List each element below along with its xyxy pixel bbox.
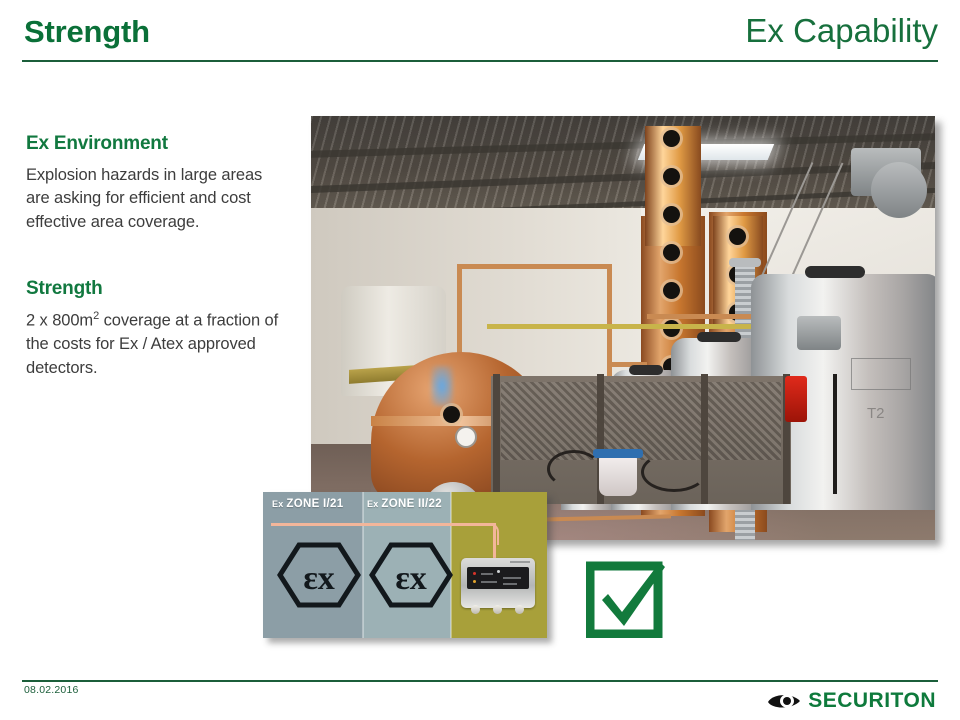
ex-prefix: Ex	[272, 499, 286, 509]
black-hose	[547, 450, 601, 488]
sampling-port	[471, 605, 480, 614]
display-line	[481, 581, 497, 583]
tank-lid	[697, 332, 741, 342]
sight-glass	[729, 228, 746, 245]
copper-pipe	[457, 264, 607, 269]
white-bucket	[599, 456, 637, 496]
skid-post	[493, 374, 500, 504]
motor-flange	[871, 162, 927, 218]
header-divider	[22, 60, 938, 62]
pressure-gauge	[455, 426, 477, 448]
sight-glass	[663, 130, 680, 147]
block-body-ex-environment: Explosion hazards in large areas are ask…	[26, 164, 284, 234]
eye-icon	[767, 691, 801, 711]
detector-cable	[271, 523, 496, 526]
display-line	[503, 577, 521, 579]
tank-placard	[851, 358, 911, 390]
ex-zone-diagram: Ex ZONE I/21 Ex ZONE II/22 ɛx ɛx	[263, 492, 547, 638]
sight-glass	[443, 406, 460, 423]
approved-checkmark-icon	[586, 554, 666, 638]
block-heading-ex-environment: Ex Environment	[26, 133, 284, 155]
photo-canvas: T2	[311, 116, 935, 540]
atex-ex-symbol-icon: ɛx	[369, 542, 453, 608]
fault-led	[473, 580, 476, 583]
detector-cable-corner	[477, 523, 499, 545]
svg-text:ɛx: ɛx	[395, 560, 427, 597]
zone-divider	[362, 492, 364, 638]
detector-brand-mark	[510, 561, 530, 563]
power-led	[497, 570, 500, 573]
slide: Strength Ex Capability Ex Environment Ex…	[0, 0, 960, 720]
skid-post	[701, 374, 708, 504]
text-column: Ex Environment Explosion hazards in larg…	[26, 133, 284, 380]
display-line	[503, 583, 517, 585]
block-heading-strength: Strength	[26, 278, 284, 300]
aspirating-detector-unit	[461, 558, 535, 608]
copper-pipe	[647, 314, 767, 319]
page-subtitle: Ex Capability	[745, 12, 938, 50]
securiton-wordmark: SECURITON	[808, 689, 936, 713]
bucket-lid	[593, 449, 643, 458]
tank-label-text: T2	[867, 405, 885, 422]
tank-agitator-motor	[797, 316, 841, 350]
sight-glass	[663, 168, 680, 185]
display-line	[481, 573, 493, 575]
ex-prefix: Ex	[367, 499, 381, 509]
ex-zone-2-label: Ex ZONE II/22	[367, 498, 442, 510]
atex-ex-symbol-icon: ɛx	[277, 542, 361, 608]
black-hose	[641, 452, 707, 492]
securiton-logo: SECURITON	[767, 689, 936, 713]
detector-cable-drop	[493, 525, 496, 561]
sampling-port	[493, 605, 502, 614]
distillery-photo: T2	[311, 116, 935, 540]
coverage-value: 2 x 800m	[26, 312, 93, 330]
footer-divider	[22, 680, 938, 682]
ex-zone-1-label: Ex ZONE I/21	[272, 498, 343, 510]
svg-text:ɛx: ɛx	[303, 560, 335, 597]
block-body-strength: 2 x 800m2 coverage at a fraction of the …	[26, 309, 284, 380]
ex-zone-2-text: ZONE II/22	[381, 498, 442, 510]
sampling-port	[515, 605, 524, 614]
still-highlight	[431, 366, 453, 406]
sight-glass	[663, 206, 680, 223]
copper-pipe	[457, 264, 462, 356]
page-title: Strength	[24, 14, 150, 50]
spacer	[26, 234, 284, 278]
alarm-led	[473, 572, 476, 575]
tank-lid	[629, 365, 663, 375]
detector-display	[467, 567, 529, 589]
sight-glass	[663, 282, 680, 299]
column-cap	[729, 258, 761, 267]
tank-lid	[805, 266, 865, 278]
red-equipment	[785, 376, 807, 422]
sight-glass	[663, 244, 680, 261]
footer-date: 08.02.2016	[24, 684, 79, 696]
power-cable	[833, 374, 837, 494]
ex-zone-1-text: ZONE I/21	[286, 498, 343, 510]
